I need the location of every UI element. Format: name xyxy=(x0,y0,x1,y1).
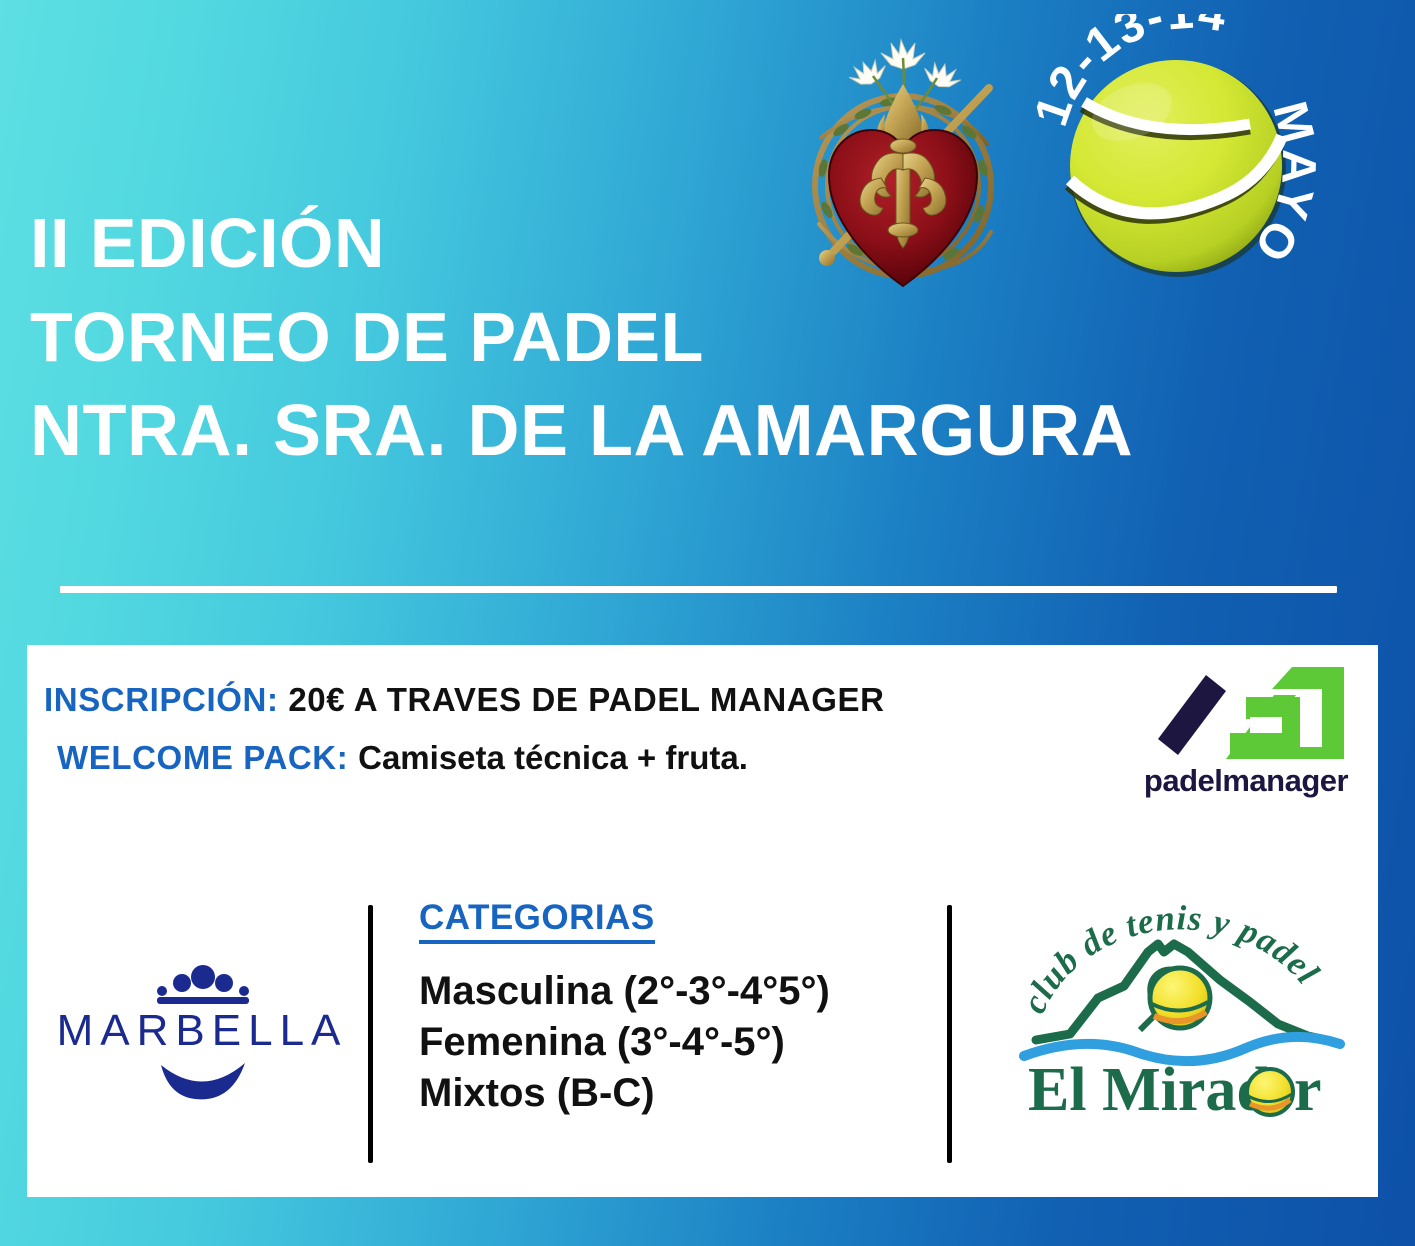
title-line-2: TORNEO DE PADEL xyxy=(30,290,1390,384)
padel-tournament-poster: 12-13-14 MAYO II EDICIÓN TORNEO DE PADEL… xyxy=(0,0,1415,1246)
inscription-value: 20€ A TRAVES DE PADEL MANAGER xyxy=(288,681,884,718)
el-mirador-logo: club de tenis y padel xyxy=(1012,890,1352,1120)
divider-left xyxy=(368,905,373,1163)
welcome-pack-row: WELCOME PACK: Camiseta técnica + fruta. xyxy=(44,729,1134,787)
title-line-3: NTRA. SRA. DE LA AMARGURA xyxy=(30,384,1390,478)
padelmanager-wordmark: padelmanager xyxy=(1122,763,1370,799)
page-title: II EDICIÓN TORNEO DE PADEL NTRA. SRA. DE… xyxy=(30,196,1390,478)
list-item: Femenina (3°-4°-5°) xyxy=(419,1017,934,1068)
marbella-wordmark: MARBELLA xyxy=(57,1006,347,1055)
list-item: Masculina (2°-3°-4°5°) xyxy=(419,966,934,1017)
categories-area: MARBELLA CATEGORIAS Masculina (2°-3°-4°5… xyxy=(27,890,1378,1190)
ball-icon-wordmark xyxy=(1247,1069,1293,1115)
marbella-logo: MARBELLA xyxy=(57,965,347,1100)
categories-heading: CATEGORIAS xyxy=(419,898,655,944)
mirador-wordmark: El Mirad xyxy=(1028,1056,1271,1120)
marbella-swoosh-icon xyxy=(161,1063,245,1099)
info-card: INSCRIPCIÓN: 20€ A TRAVES DE PADEL MANAG… xyxy=(27,645,1378,1197)
ball-icon-top xyxy=(1150,968,1210,1028)
padelmanager-logo: padelmanager xyxy=(1122,659,1370,819)
welcome-pack-label: WELCOME PACK: xyxy=(57,739,348,776)
categories-list: Masculina (2°-3°-4°5°) Femenina (3°-4°-5… xyxy=(419,966,934,1119)
divider-right xyxy=(947,905,952,1163)
list-item: Mixtos (B-C) xyxy=(419,1068,934,1119)
padelmanager-mark-icon xyxy=(1122,659,1370,767)
title-line-1: II EDICIÓN xyxy=(30,196,1390,290)
registration-info: INSCRIPCIÓN: 20€ A TRAVES DE PADEL MANAG… xyxy=(44,671,1134,787)
welcome-pack-value: Camiseta técnica + fruta. xyxy=(358,739,748,776)
inscription-label: INSCRIPCIÓN: xyxy=(44,681,279,718)
title-divider xyxy=(60,586,1337,593)
inscription-row: INSCRIPCIÓN: 20€ A TRAVES DE PADEL MANAG… xyxy=(44,671,1134,729)
categories-block: CATEGORIAS Masculina (2°-3°-4°5°) Femeni… xyxy=(419,898,934,1119)
mirador-wordmark-tail: r xyxy=(1294,1056,1322,1120)
marbella-crown-icon xyxy=(157,965,249,1004)
